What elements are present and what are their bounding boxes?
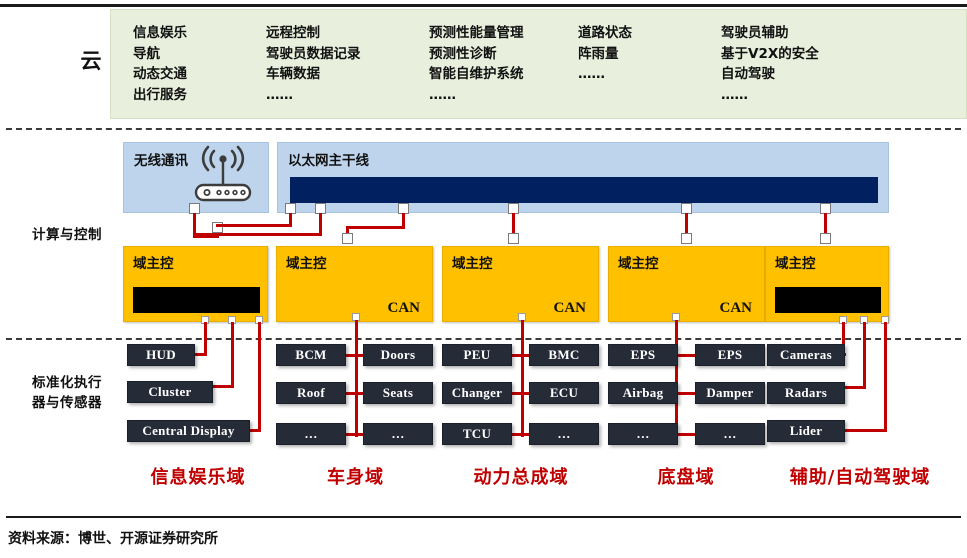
row-label-actuators-line1: 标准化执行 <box>6 375 102 392</box>
dc-bus-label: CAN <box>388 300 421 317</box>
wire-eth-c-run <box>346 226 405 229</box>
cloud-item: …… <box>578 64 632 85</box>
ethernet-backbone-panel: 以太网主干线 <box>277 142 889 213</box>
wire-eth-b-drop <box>319 213 322 235</box>
wire-eth-f-drop <box>824 213 827 235</box>
dc-processor-bar <box>775 287 881 313</box>
domain-controller-adas[interactable]: 域主控 <box>765 246 889 322</box>
port-dc2-top[interactable] <box>342 233 353 244</box>
cloud-item: 信息娱乐 <box>133 23 187 44</box>
cloud-item: …… <box>266 85 361 106</box>
node-doors[interactable]: Doors <box>363 344 433 366</box>
dc-title: 域主控 <box>133 252 174 272</box>
wire-can-chassis-trunk <box>675 320 678 437</box>
wire-can-body-trunk <box>355 320 358 437</box>
cloud-item: …… <box>721 85 819 106</box>
node-roof[interactable]: Roof <box>276 382 346 404</box>
wifi-router-icon <box>184 145 262 207</box>
domain-label-powertrain: 动力总成域 <box>445 463 597 489</box>
layer-divider-cloud-compute <box>6 128 961 130</box>
node-airbag[interactable]: Airbag <box>608 382 678 404</box>
cloud-item: 道路状态 <box>578 23 632 44</box>
cloud-column-road: 道路状态 阵雨量 …… <box>578 23 632 85</box>
cloud-column-driving: 驾驶员辅助 基于V2X的安全 自动驾驶 …… <box>721 23 819 105</box>
node-peu[interactable]: PEU <box>442 344 512 366</box>
layer-divider-compute-actuators <box>6 338 961 340</box>
domain-controller-chassis[interactable]: 域主控 CAN <box>608 246 765 322</box>
port-dc5-top[interactable] <box>820 233 831 244</box>
dc-title: 域主控 <box>286 252 327 272</box>
wire-display-v <box>258 322 261 431</box>
node-tcu[interactable]: TCU <box>442 423 512 445</box>
node-body-more-left[interactable]: … <box>276 423 346 445</box>
dc-bus-label: CAN <box>554 300 587 317</box>
cloud-item: 智能自维护系统 <box>429 64 524 85</box>
domain-label-infotainment: 信息娱乐域 <box>118 463 278 489</box>
cloud-item: 预测性能量管理 <box>429 23 524 44</box>
node-radars[interactable]: Radars <box>767 382 845 404</box>
node-cameras[interactable]: Cameras <box>767 344 845 366</box>
domain-label-body: 车身域 <box>288 463 423 489</box>
node-damper[interactable]: Damper <box>695 382 765 404</box>
wire-eth-a-run <box>216 224 292 227</box>
wireless-label: 无线通讯 <box>134 149 188 169</box>
cloud-item: 自动驾驶 <box>721 64 819 85</box>
node-cluster[interactable]: Cluster <box>127 381 213 403</box>
node-seats[interactable]: Seats <box>363 382 433 404</box>
ethernet-label: 以太网主干线 <box>288 149 369 169</box>
wire-can-powertrain-trunk <box>521 320 524 437</box>
dc-title: 域主控 <box>618 252 659 272</box>
cloud-item: 基于V2X的安全 <box>721 44 819 65</box>
row-label-cloud: 云 <box>10 48 102 75</box>
wire-eth-b-run <box>193 233 322 236</box>
cloud-item: 远程控制 <box>266 23 361 44</box>
node-central-display[interactable]: Central Display <box>127 420 250 442</box>
node-chassis-more-right[interactable]: … <box>695 423 765 445</box>
top-divider <box>0 4 967 7</box>
cloud-item: 阵雨量 <box>578 44 632 65</box>
domain-controller-body[interactable]: 域主控 CAN <box>276 246 433 322</box>
row-label-compute: 计算与控制 <box>6 227 102 244</box>
cloud-item: 预测性诊断 <box>429 44 524 65</box>
node-bmc[interactable]: BMC <box>529 344 599 366</box>
port-dc3-top[interactable] <box>508 233 519 244</box>
dc-bus-label: CAN <box>720 300 753 317</box>
cloud-item: 出行服务 <box>133 85 187 106</box>
dc-title: 域主控 <box>452 252 493 272</box>
cloud-panel: 信息娱乐 导航 动态交通 出行服务 远程控制 驾驶员数据记录 车辆数据 …… 预… <box>110 9 967 119</box>
cloud-column-remote: 远程控制 驾驶员数据记录 车辆数据 …… <box>266 23 361 105</box>
cloud-item: 驾驶员辅助 <box>721 23 819 44</box>
domain-label-adas: 辅助/自动驾驶域 <box>762 463 958 489</box>
footer-divider <box>6 516 961 518</box>
domain-label-chassis: 底盘域 <box>620 463 752 489</box>
node-chassis-more-left[interactable]: … <box>608 423 678 445</box>
figure-canvas: 云 计算与控制 标准化执行 器与传感器 信息娱乐 导航 动态交通 出行服务 远程… <box>0 0 967 558</box>
ethernet-backbone-bar <box>290 177 878 203</box>
row-label-actuators-line2: 器与传感器 <box>6 395 102 412</box>
dc-title: 域主控 <box>775 252 816 272</box>
node-hud[interactable]: HUD <box>127 344 195 366</box>
node-eps-right[interactable]: EPS <box>695 344 765 366</box>
dc-processor-bar <box>133 287 260 313</box>
cloud-item: 车辆数据 <box>266 64 361 85</box>
wire-eth-d-drop <box>512 213 515 235</box>
node-lider[interactable]: Lider <box>767 420 845 442</box>
domain-controller-powertrain[interactable]: 域主控 CAN <box>442 246 599 322</box>
wire-eth-e-drop <box>685 213 688 235</box>
cloud-column-predictive: 预测性能量管理 预测性诊断 智能自维护系统 …… <box>429 23 524 105</box>
wire-radars-v <box>863 322 866 388</box>
node-powertrain-more[interactable]: … <box>529 423 599 445</box>
cloud-column-infotainment: 信息娱乐 导航 动态交通 出行服务 <box>133 23 187 105</box>
node-eps-left[interactable]: EPS <box>608 344 678 366</box>
node-ecu[interactable]: ECU <box>529 382 599 404</box>
source-note: 资料来源：博世、开源证券研究所 <box>8 528 218 548</box>
port-dc4-top[interactable] <box>681 233 692 244</box>
cloud-item: …… <box>429 85 524 106</box>
node-changer[interactable]: Changer <box>442 382 512 404</box>
wire-hud-v <box>204 322 207 355</box>
domain-controller-infotainment[interactable]: 域主控 <box>123 246 268 322</box>
node-body-more-right[interactable]: … <box>363 423 433 445</box>
cloud-item: 导航 <box>133 44 187 65</box>
wire-lider-v <box>884 322 887 431</box>
wire-cluster-v <box>231 322 234 387</box>
cloud-item: 驾驶员数据记录 <box>266 44 361 65</box>
node-bcm[interactable]: BCM <box>276 344 346 366</box>
cloud-item: 动态交通 <box>133 64 187 85</box>
